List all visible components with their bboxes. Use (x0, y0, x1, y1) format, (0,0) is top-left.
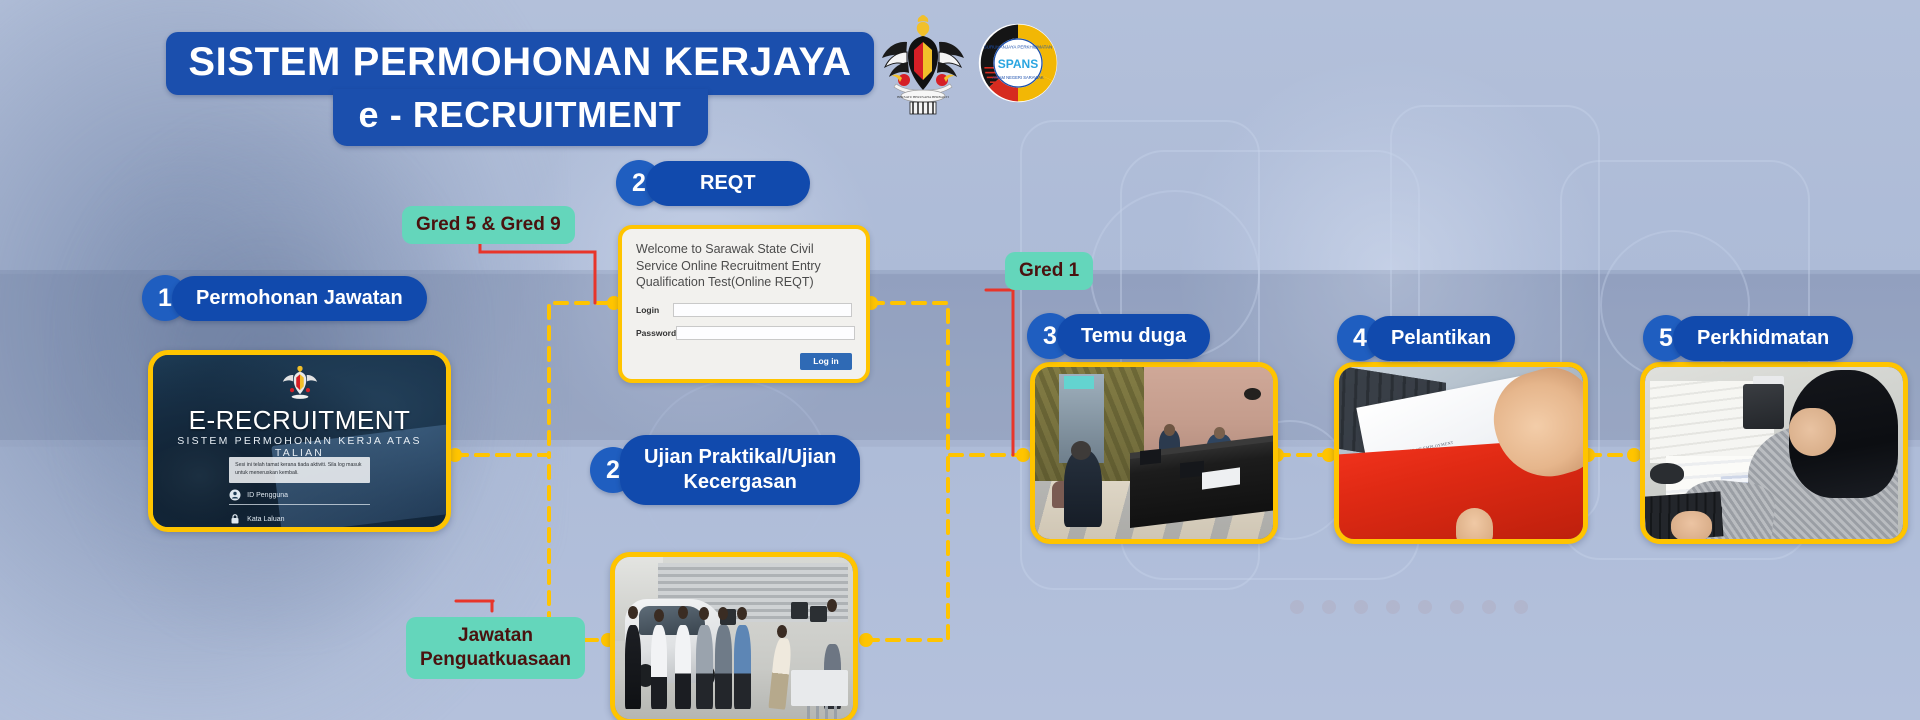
svg-text:SPANS: SPANS (998, 57, 1038, 71)
step-badge-4[interactable]: 4 Pelantikan (1337, 315, 1515, 361)
svg-text:AWAM NEGERI SARAWAK: AWAM NEGERI SARAWAK (992, 75, 1044, 80)
infographic-root: SISTEM PERMOHONAN KERJAYA e - RECRUITMEN… (0, 0, 1920, 720)
step-label-pelantikan: Pelantikan (1367, 316, 1515, 361)
sarawak-coat-of-arms-icon: BERSATU BERUSAHA BERBAKTI (880, 8, 966, 118)
reqt-footer: Log in (636, 349, 852, 370)
reqt-password-row: Password (636, 326, 852, 340)
spans-logo-icon: SURUHANJAYA PERKHIDMATAN SPANS AWAM NEGE… (978, 23, 1058, 103)
job-offer-scene: WE LETTER OF OFFER OF EMPLOYMENT JOB OFF… (1339, 367, 1583, 539)
page-title-line-1: SISTEM PERMOHONAN KERJAYA (166, 32, 873, 95)
office-service-inner (1645, 367, 1903, 539)
practical-test-scene (615, 557, 853, 719)
step-badge-2-ujian[interactable]: 2 Ujian Praktikal/Ujian Kecergasan (590, 435, 860, 505)
erecruitment-screenshot-card[interactable]: E-RECRUITMENT SISTEM PERMOHONAN KERJA AT… (148, 350, 451, 532)
erecruitment-title: E-RECRUITMENT (153, 405, 446, 436)
reqt-welcome-text: Welcome to Sarawak State Civil Service O… (636, 241, 852, 291)
reqt-login-row: Login (636, 303, 852, 317)
erecruitment-subtitle: SISTEM PERMOHONAN KERJA ATAS TALIAN (153, 435, 446, 459)
erecruitment-user-placeholder: ID Pengguna (247, 492, 288, 499)
lock-icon (229, 513, 241, 525)
step-label-permohonan-jawatan: Permohonan Jawatan (172, 276, 427, 321)
office-service-photo[interactable] (1640, 362, 1908, 544)
erecruitment-password-placeholder: Kata Laluan (247, 516, 284, 523)
step-badge-2-reqt[interactable]: 2 REQT (616, 160, 810, 206)
reqt-login-input[interactable] (673, 303, 852, 317)
job-offer-letter-photo[interactable]: WE LETTER OF OFFER OF EMPLOYMENT JOB OFF… (1334, 362, 1588, 544)
page-title-line-2: e - RECRUITMENT (333, 89, 708, 146)
step-label-reqt: REQT (646, 161, 810, 206)
interview-photo-inner (1035, 367, 1273, 539)
step-label-ujian-praktikal: Ujian Praktikal/Ujian Kecergasan (620, 435, 860, 505)
svg-text:SURUHANJAYA PERKHIDMATAN: SURUHANJAYA PERKHIDMATAN (984, 45, 1052, 50)
erecruitment-crest-icon (282, 360, 318, 406)
job-offer-letter-inner: WE LETTER OF OFFER OF EMPLOYMENT JOB OFF… (1339, 367, 1583, 539)
logo-group: BERSATU BERUSAHA BERBAKTI (880, 8, 1058, 118)
reqt-password-label: Password (636, 328, 676, 338)
step-label-perkhidmatan: Perkhidmatan (1673, 316, 1853, 361)
step-badge-5[interactable]: 5 Perkhidmatan (1643, 315, 1853, 361)
page-title: SISTEM PERMOHONAN KERJAYA e - RECRUITMEN… (160, 32, 880, 146)
interview-photo[interactable] (1030, 362, 1278, 544)
practical-test-photo[interactable] (610, 552, 858, 720)
svg-text:BERSATU BERUSAHA BERBAKTI: BERSATU BERUSAHA BERBAKTI (897, 95, 950, 99)
reqt-password-input[interactable] (676, 326, 855, 340)
tag-jawatan-penguatkuasaan: Jawatan Penguatkuasaan (406, 617, 585, 679)
user-icon (229, 489, 241, 501)
erecruitment-screenshot-inner: E-RECRUITMENT SISTEM PERMOHONAN KERJA AT… (153, 355, 446, 527)
office-service-scene (1645, 367, 1903, 539)
reqt-login-label: Login (636, 305, 673, 315)
reqt-login-button[interactable]: Log in (800, 353, 852, 370)
tag-gred-1: Gred 1 (1005, 252, 1093, 290)
interview-scene (1035, 367, 1273, 539)
erecruitment-user-field[interactable]: ID Pengguna (229, 489, 370, 505)
tag-gred-5-and-9: Gred 5 & Gred 9 (402, 206, 575, 244)
erecruitment-session-notice: Sesi ini telah tamat kerana tiada aktivi… (229, 457, 370, 483)
step-badge-3[interactable]: 3 Temu duga (1027, 313, 1210, 359)
reqt-login-card[interactable]: Welcome to Sarawak State Civil Service O… (618, 225, 870, 383)
step-label-temu-duga: Temu duga (1057, 314, 1210, 359)
practical-test-photo-inner (615, 557, 853, 719)
step-badge-1[interactable]: 1 Permohonan Jawatan (142, 275, 427, 321)
erecruitment-password-field[interactable]: Kata Laluan (229, 513, 370, 527)
